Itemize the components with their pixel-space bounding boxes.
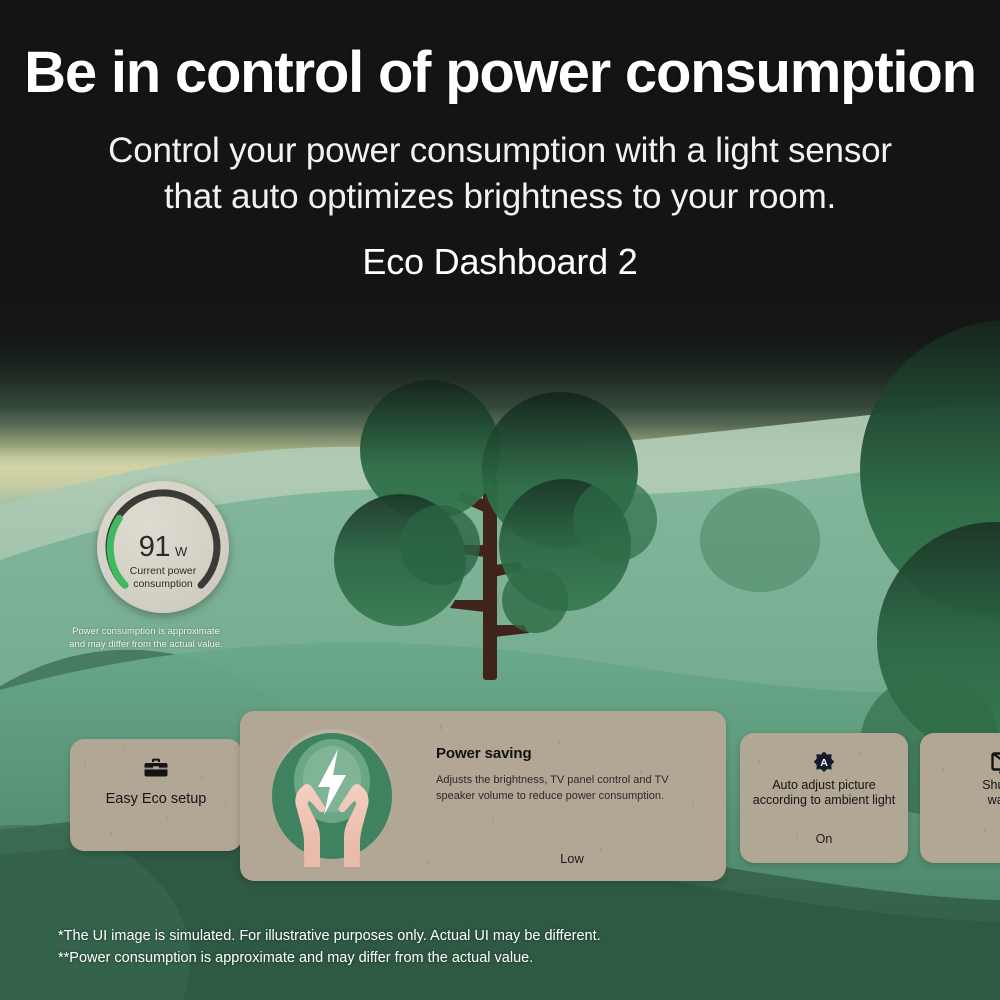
card-easy-eco-setup[interactable]: Easy Eco setup (70, 739, 242, 851)
gauge-disclaimer-line-2: and may differ from the actual value. (69, 639, 223, 650)
card-title: Auto adjust picture according to ambient… (746, 778, 902, 808)
auto-brightness-badge-icon: A (740, 751, 908, 777)
card-description-line-1: Adjusts the brightness, TV panel control… (436, 774, 669, 786)
screen-off-icon (920, 751, 1000, 777)
card-title: Easy Eco setup (76, 791, 236, 808)
promo-banner: Be in control of power consumption Contr… (0, 0, 1000, 1000)
card-title: Shut-off watch (926, 778, 1000, 808)
svg-text:A: A (820, 757, 828, 769)
footer-line-2: **Power consumption is approximate and m… (58, 947, 601, 969)
card-title-line-1: Shut-off (982, 778, 1000, 792)
card-title-line-1: Auto adjust picture (772, 778, 876, 792)
gauge-track (109, 493, 217, 585)
subtitle-line-1: Control your power consumption with a li… (108, 131, 892, 170)
product-name: Eco Dashboard 2 (0, 219, 1000, 283)
gauge-disclaimer: Power consumption is approximate and may… (36, 626, 256, 652)
card-title-line-2: watch (988, 793, 1000, 807)
footer-disclaimer: *The UI image is simulated. For illustra… (58, 925, 601, 969)
toolbox-icon (70, 757, 242, 783)
card-auto-adjust-picture[interactable]: A Auto adjust picture according to ambie… (740, 733, 908, 863)
gauge-arc (97, 481, 229, 613)
footer-line-1: *The UI image is simulated. For illustra… (58, 925, 601, 947)
page-title: Be in control of power consumption (0, 0, 1000, 102)
gauge-disclaimer-line-1: Power consumption is approximate (72, 626, 220, 637)
gauge-fill (110, 518, 125, 585)
subtitle-line-2: that auto optimizes brightness to your r… (164, 177, 836, 216)
card-power-saving[interactable]: Power saving Adjusts the brightness, TV … (240, 711, 726, 881)
card-state-value: Low (436, 851, 708, 866)
header-block: Be in control of power consumption Contr… (0, 0, 1000, 283)
card-description-line-2: speaker volume to reduce power consumpti… (436, 790, 664, 802)
page-subtitle: Control your power consumption with a li… (50, 102, 950, 219)
card-title: Power saving (436, 745, 532, 762)
hands-holding-energy-icon (258, 725, 406, 867)
power-gauge: 91W Current power consumption (97, 481, 229, 613)
card-shut-off-when-not-watching[interactable]: Shut-off watch (920, 733, 1000, 863)
card-state-value: On (740, 832, 908, 846)
card-description: Adjusts the brightness, TV panel control… (436, 773, 714, 804)
card-title-line-2: according to ambient light (753, 793, 895, 807)
